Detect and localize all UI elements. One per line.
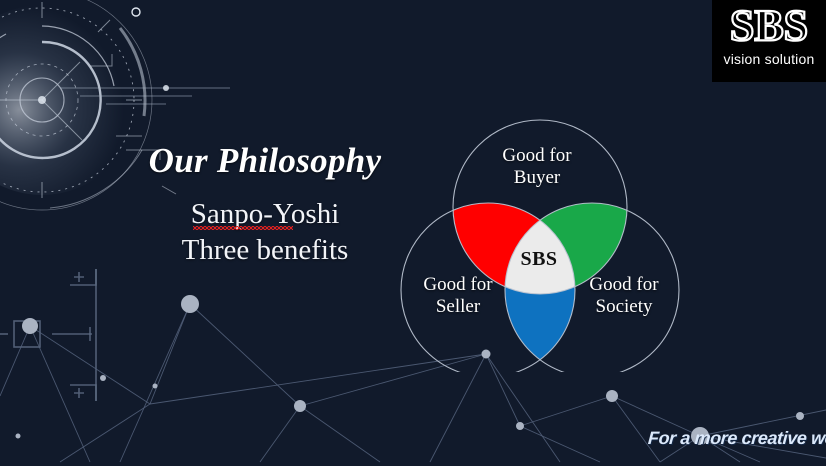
venn-label-society-line2: Society: [596, 296, 653, 317]
logo-subtitle: vision solution: [724, 51, 815, 67]
svg-text:SBS: SBS: [730, 4, 808, 50]
sanpo-yoshi-wrapper: Sanpo-Yoshi: [191, 196, 340, 232]
subtitle-group: Sanpo-Yoshi Three benefits: [120, 196, 410, 269]
venn-label-seller: Good for Seller: [399, 274, 517, 319]
venn-label-buyer: Good for Buyer: [477, 145, 597, 190]
venn-label-seller-line1: Good for: [423, 274, 492, 295]
venn-label-society: Good for Society: [565, 274, 683, 319]
venn-label-seller-line2: Seller: [436, 296, 480, 317]
tagline: For a more creative world: [647, 428, 826, 449]
subtitle-line-2: Three benefits: [120, 232, 410, 268]
venn-center-label: SBS: [495, 248, 583, 271]
slide-canvas: Our Philosophy Sanpo-Yoshi Three benefit…: [0, 0, 826, 466]
venn-diagram: Good for Buyer Good for Seller Good for …: [395, 112, 685, 372]
philosophy-text-block: Our Philosophy Sanpo-Yoshi Three benefit…: [120, 143, 410, 268]
sbs-logo: SBS vision solution: [712, 0, 826, 82]
venn-label-society-line1: Good for: [589, 274, 658, 295]
sbs-logomark-icon: SBS: [717, 4, 821, 50]
targeting-brackets-icon: [0, 255, 200, 415]
venn-label-buyer-line2: Buyer: [514, 167, 560, 188]
venn-label-buyer-line1: Good for: [502, 145, 571, 166]
spellcheck-underline: [193, 226, 293, 230]
page-title: Our Philosophy: [120, 143, 410, 180]
